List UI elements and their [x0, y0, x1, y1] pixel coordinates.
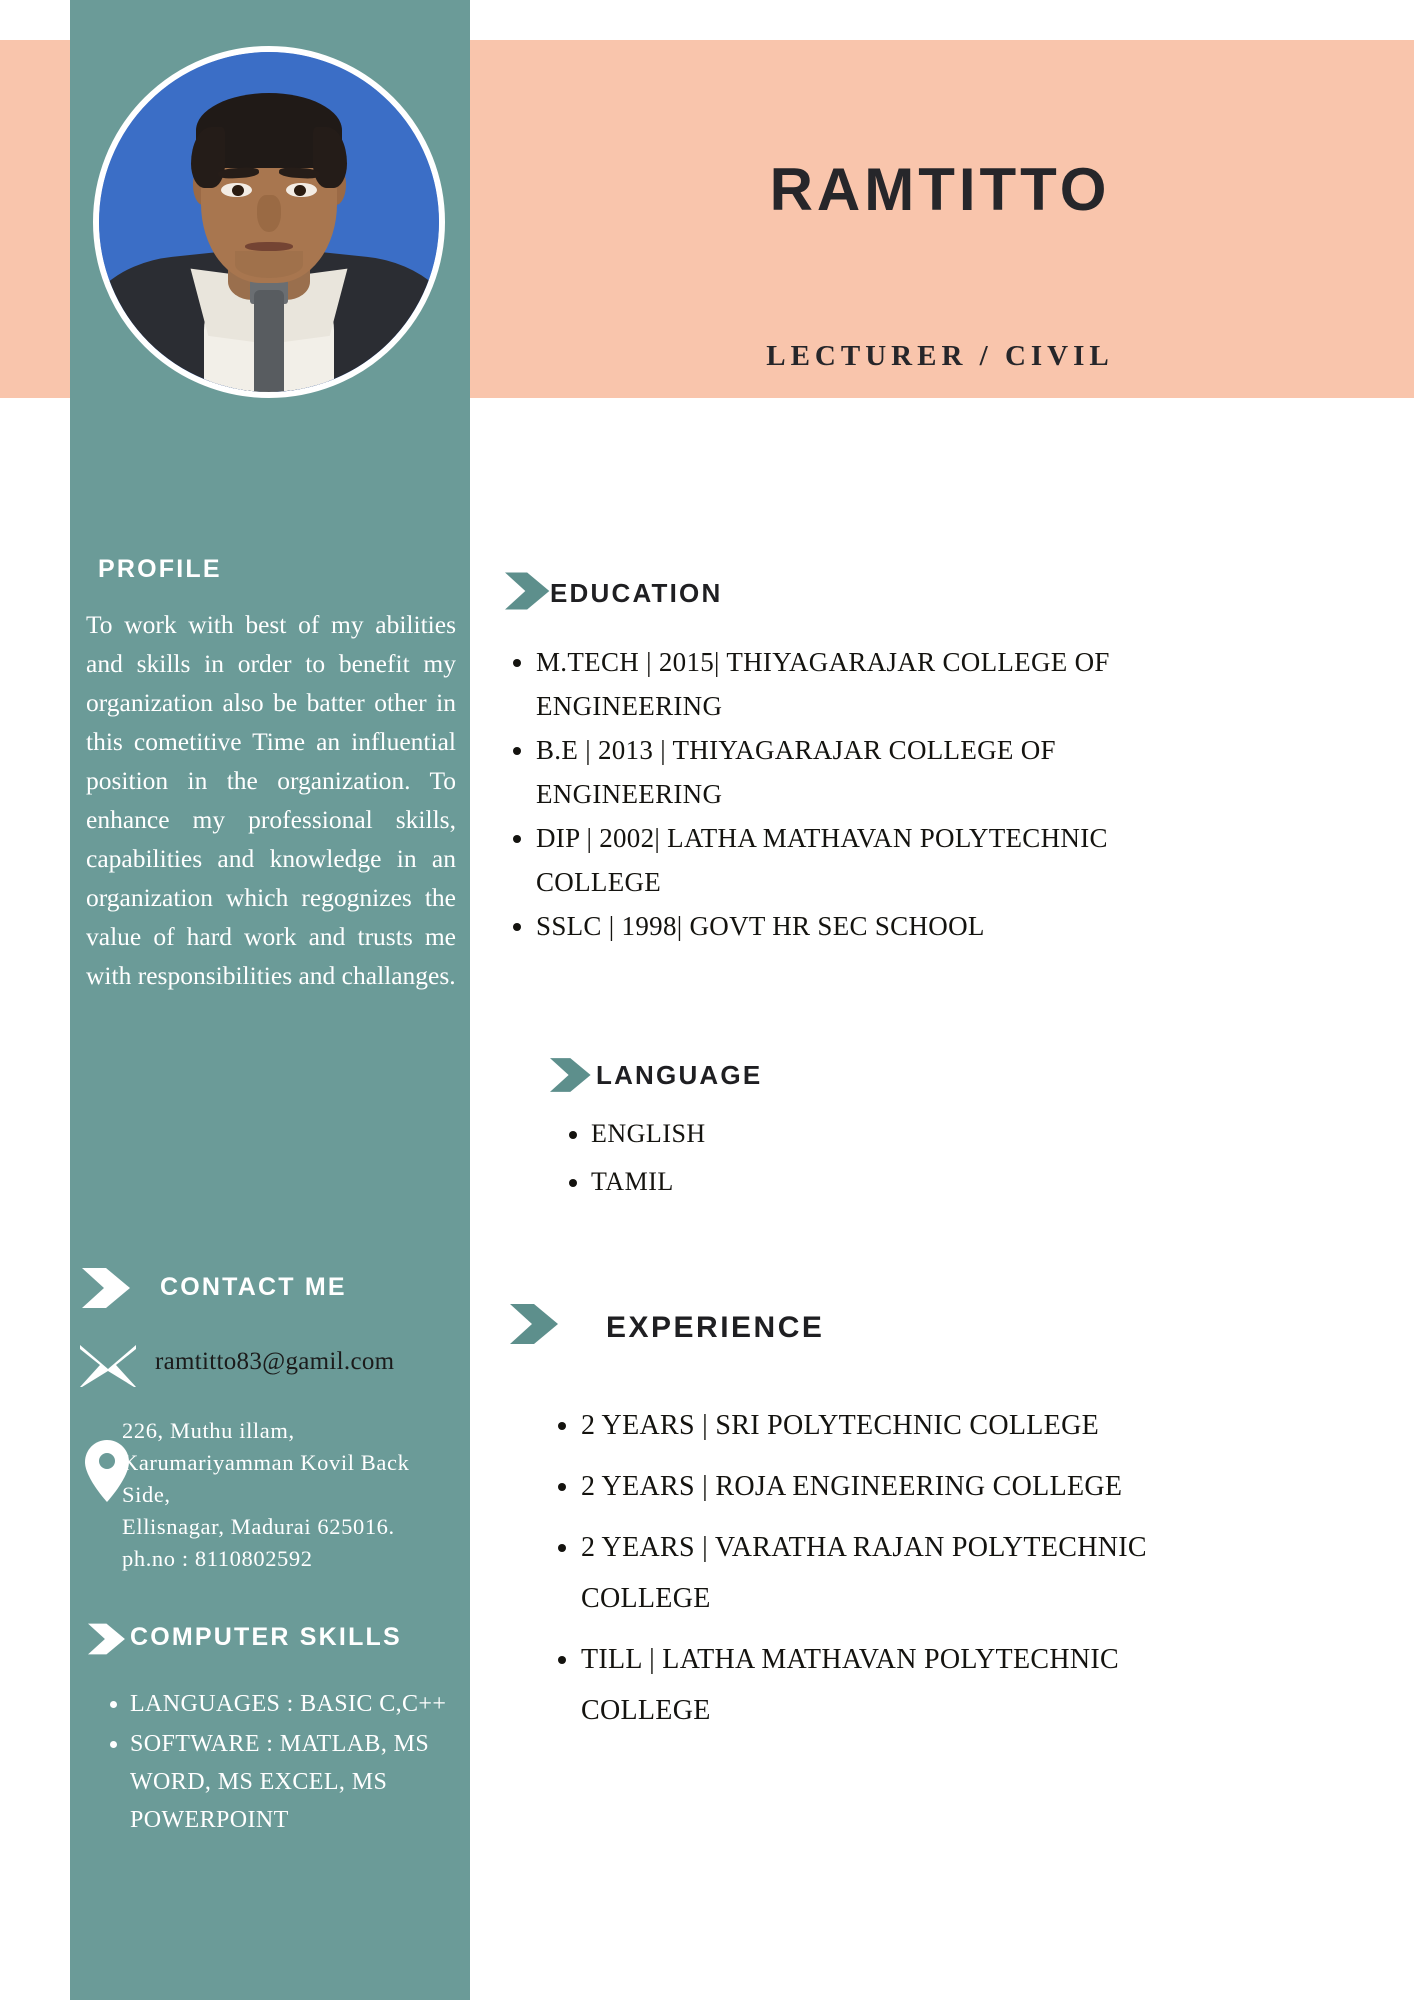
postal-address: 226, Muthu illam, Karumariyamman Kovil B… — [122, 1415, 462, 1575]
portrait-photo — [99, 52, 439, 392]
email-address[interactable]: ramtitto83@gamil.com — [155, 1348, 394, 1376]
page-title: RAMTITTO — [500, 155, 1380, 224]
list-item: LANGUAGES : BASIC C,C++ — [130, 1685, 500, 1723]
language-heading: LANGUAGE — [596, 1060, 762, 1091]
avatar — [93, 46, 445, 398]
list-item: 2 YEARS | ROJA ENGINEERING COLLEGE — [581, 1461, 1151, 1512]
chevron-right-icon — [505, 572, 553, 610]
list-item: TAMIL — [591, 1158, 1011, 1206]
education-heading: EDUCATION — [550, 578, 722, 609]
list-item: 2 YEARS | VARATHA RAJAN POLYTECHNIC COLL… — [581, 1522, 1151, 1624]
profile-heading: PROFILE — [98, 555, 222, 584]
chevron-right-icon — [510, 1303, 562, 1345]
job-title: LECTURER / CIVIL — [500, 340, 1380, 373]
education-list: M.TECH | 2015| THIYAGARAJAR COLLEGE OF E… — [500, 640, 1136, 948]
chevron-right-icon — [88, 1622, 128, 1656]
list-item: SSLC | 1998| GOVT HR SEC SCHOOL — [536, 904, 1136, 948]
chevron-right-icon — [82, 1268, 134, 1308]
resume-page: RAMTITTO LECTURER / CIVIL PROFILE To wor… — [0, 0, 1414, 2000]
envelope-icon — [80, 1345, 136, 1392]
list-item: SOFTWARE : MATLAB, MS WORD, MS EXCEL, MS… — [130, 1725, 500, 1839]
list-item: B.E | 2013 | THIYAGARAJAR COLLEGE OF ENG… — [536, 728, 1136, 816]
list-item: DIP | 2002| LATHA MATHAVAN POLYTECHNIC C… — [536, 816, 1136, 904]
list-item: 2 YEARS | SRI POLYTECHNIC COLLEGE — [581, 1400, 1151, 1451]
list-item: TILL | LATHA MATHAVAN POLYTECHNIC COLLEG… — [581, 1634, 1151, 1736]
profile-body-text: To work with best of my abilities and sk… — [86, 605, 456, 995]
computer-skills-heading: COMPUTER SKILLS — [130, 1623, 402, 1652]
list-item: M.TECH | 2015| THIYAGARAJAR COLLEGE OF E… — [536, 640, 1136, 728]
experience-heading: EXPERIENCE — [606, 1311, 824, 1345]
language-list: ENGLISH TAMIL — [555, 1110, 1011, 1206]
chevron-right-icon — [550, 1057, 594, 1093]
list-item: ENGLISH — [591, 1110, 1011, 1158]
computer-skills-list: LANGUAGES : BASIC C,C++ SOFTWARE : MATLA… — [96, 1685, 500, 1841]
experience-list: 2 YEARS | SRI POLYTECHNIC COLLEGE 2 YEAR… — [545, 1400, 1151, 1746]
contact-heading: CONTACT ME — [160, 1273, 347, 1302]
